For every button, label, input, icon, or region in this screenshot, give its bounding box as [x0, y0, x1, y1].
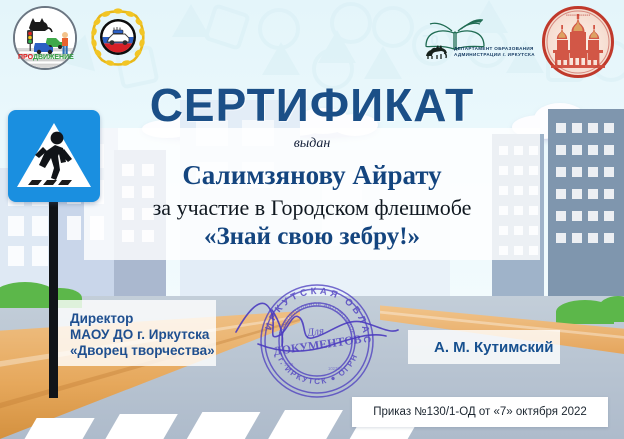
issued-label: выдан — [0, 136, 624, 152]
event-name: «Знай свою зебру!» — [0, 223, 624, 251]
prodvizhenie-logo: ПРОДВИЖЕНИЕ — [13, 6, 77, 70]
cathedral-icon: ●●●●●●●●●●●● — [542, 6, 614, 78]
department-line2: АДМИНИСТРАЦИИ г. ИРКУТСКА — [454, 52, 546, 58]
page-title: СЕРТИФИКАТ — [0, 78, 624, 132]
pedestrian-crossing-sign — [8, 110, 100, 410]
gibdd-emblem — [86, 4, 150, 70]
certificate-canvas: 70 — [0, 0, 624, 439]
recipient-name: Салимзянову Айрату — [0, 160, 624, 191]
signer-name: А. М. Кутимский — [434, 339, 553, 356]
department-text: ДЕПАРТАМЕНТ ОБРАЗОВАНИЯ АДМИНИСТРАЦИИ г.… — [454, 46, 546, 59]
department-of-education-logo: ДЕПАРТАМЕНТ ОБРАЗОВАНИЯ АДМИНИСТРАЦИИ г.… — [418, 16, 538, 74]
order-text: Приказ №130/1-ОД от «7» октября 2022 — [352, 397, 608, 427]
bush-right-2 — [598, 296, 624, 322]
babr-icon — [424, 44, 448, 60]
irkutsk-cathedral-seal: ●●●●●●●●●●●● — [542, 6, 614, 78]
prodvizhenie-caption-green: ДВИЖЕНИЕ — [33, 54, 74, 61]
prodvizhenie-caption-red: ПРО — [18, 54, 33, 61]
gibdd-artwork — [86, 4, 150, 70]
handwritten-signature — [232, 288, 402, 368]
svg-text:●●●●●●●●●●●●: ●●●●●●●●●●●● — [566, 13, 591, 17]
participation-reason: за участие в Городском флешмобе — [0, 195, 624, 221]
